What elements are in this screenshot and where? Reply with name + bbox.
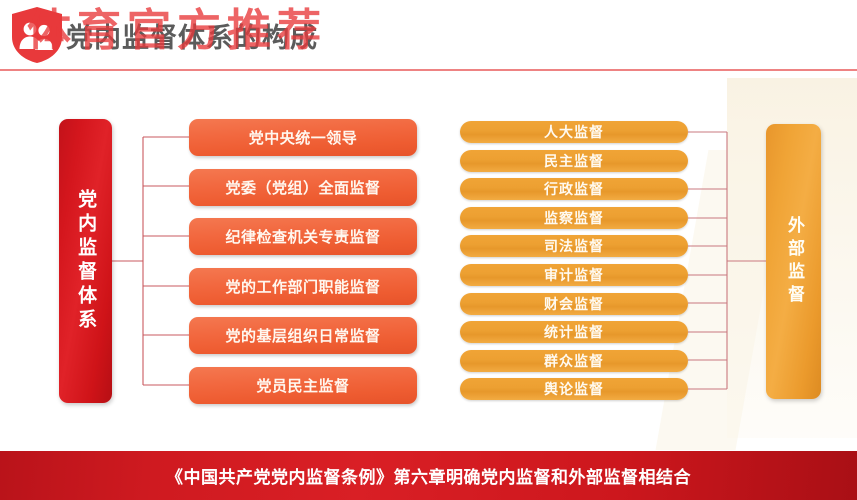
external-supervision-box-label: 群众监督 [544, 351, 604, 371]
right-pillar-external-supervision[interactable]: 外部监督 [766, 124, 821, 399]
footer-caption-text: 《中国共产党党内监督条例》第六章明确党内监督和外部监督相结合 [166, 463, 691, 488]
internal-supervision-column: 党中央统一领导党委（党组）全面监督纪律检查机关专责监督党的工作部门职能监督党的基… [189, 119, 417, 403]
external-supervision-box[interactable]: 人大监督 [460, 121, 688, 143]
internal-supervision-box-label: 党的工作部门职能监督 [225, 276, 380, 297]
internal-supervision-box[interactable]: 纪律检查机关专责监督 [189, 218, 417, 255]
internal-supervision-box[interactable]: 党中央统一领导 [189, 119, 417, 156]
internal-supervision-box-label: 党员民主监督 [256, 375, 349, 396]
external-supervision-box[interactable]: 财会监督 [460, 293, 688, 315]
header-divider [0, 69, 857, 71]
internal-supervision-box[interactable]: 党的工作部门职能监督 [189, 268, 417, 305]
external-supervision-box[interactable]: 司法监督 [460, 235, 688, 257]
external-supervision-box-label: 审计监督 [544, 265, 604, 285]
footer-caption-bar: 《中国共产党党内监督条例》第六章明确党内监督和外部监督相结合 [0, 451, 857, 500]
external-supervision-box[interactable]: 监察监督 [460, 207, 688, 229]
internal-supervision-box[interactable]: 党员民主监督 [189, 367, 417, 404]
external-supervision-box[interactable]: 舆论监督 [460, 378, 688, 400]
external-supervision-box-label: 舆论监督 [544, 379, 604, 399]
external-supervision-box-label: 行政监督 [544, 179, 604, 199]
external-supervision-box-label: 统计监督 [544, 322, 604, 342]
page-title: 党内监督体系的构成 [66, 16, 318, 55]
left-pillar-label: 党内监督体系 [75, 189, 96, 333]
internal-supervision-box-label: 党中央统一领导 [249, 127, 358, 148]
slide-header: 党内监督体系的构成 [0, 0, 857, 71]
external-supervision-box[interactable]: 群众监督 [460, 350, 688, 372]
internal-supervision-box[interactable]: 党委（党组）全面监督 [189, 169, 417, 206]
external-supervision-box-label: 监察监督 [544, 208, 604, 228]
external-supervision-box[interactable]: 统计监督 [460, 321, 688, 343]
external-supervision-box-label: 司法监督 [544, 236, 604, 256]
right-pillar-label: 外部监督 [784, 216, 803, 308]
internal-supervision-box-label: 纪律检查机关专责监督 [225, 226, 380, 247]
external-supervision-box[interactable]: 民主监督 [460, 150, 688, 172]
slide-canvas: 党内监督体系的构成 体育官方推荐 [0, 0, 857, 500]
internal-supervision-box-label: 党委（党组）全面监督 [225, 177, 380, 198]
external-supervision-box-label: 财会监督 [544, 294, 604, 314]
internal-supervision-box-label: 党的基层组织日常监督 [225, 325, 380, 346]
external-supervision-box-label: 人大监督 [544, 122, 604, 142]
external-supervision-box[interactable]: 审计监督 [460, 264, 688, 286]
external-supervision-box[interactable]: 行政监督 [460, 178, 688, 200]
left-pillar-internal-supervision[interactable]: 党内监督体系 [59, 119, 112, 403]
external-supervision-box-label: 民主监督 [544, 151, 604, 171]
internal-supervision-box[interactable]: 党的基层组织日常监督 [189, 317, 417, 354]
shield-people-icon [9, 6, 65, 64]
external-supervision-column: 人大监督民主监督行政监督监察监督司法监督审计监督财会监督统计监督群众监督舆论监督 [460, 121, 688, 400]
